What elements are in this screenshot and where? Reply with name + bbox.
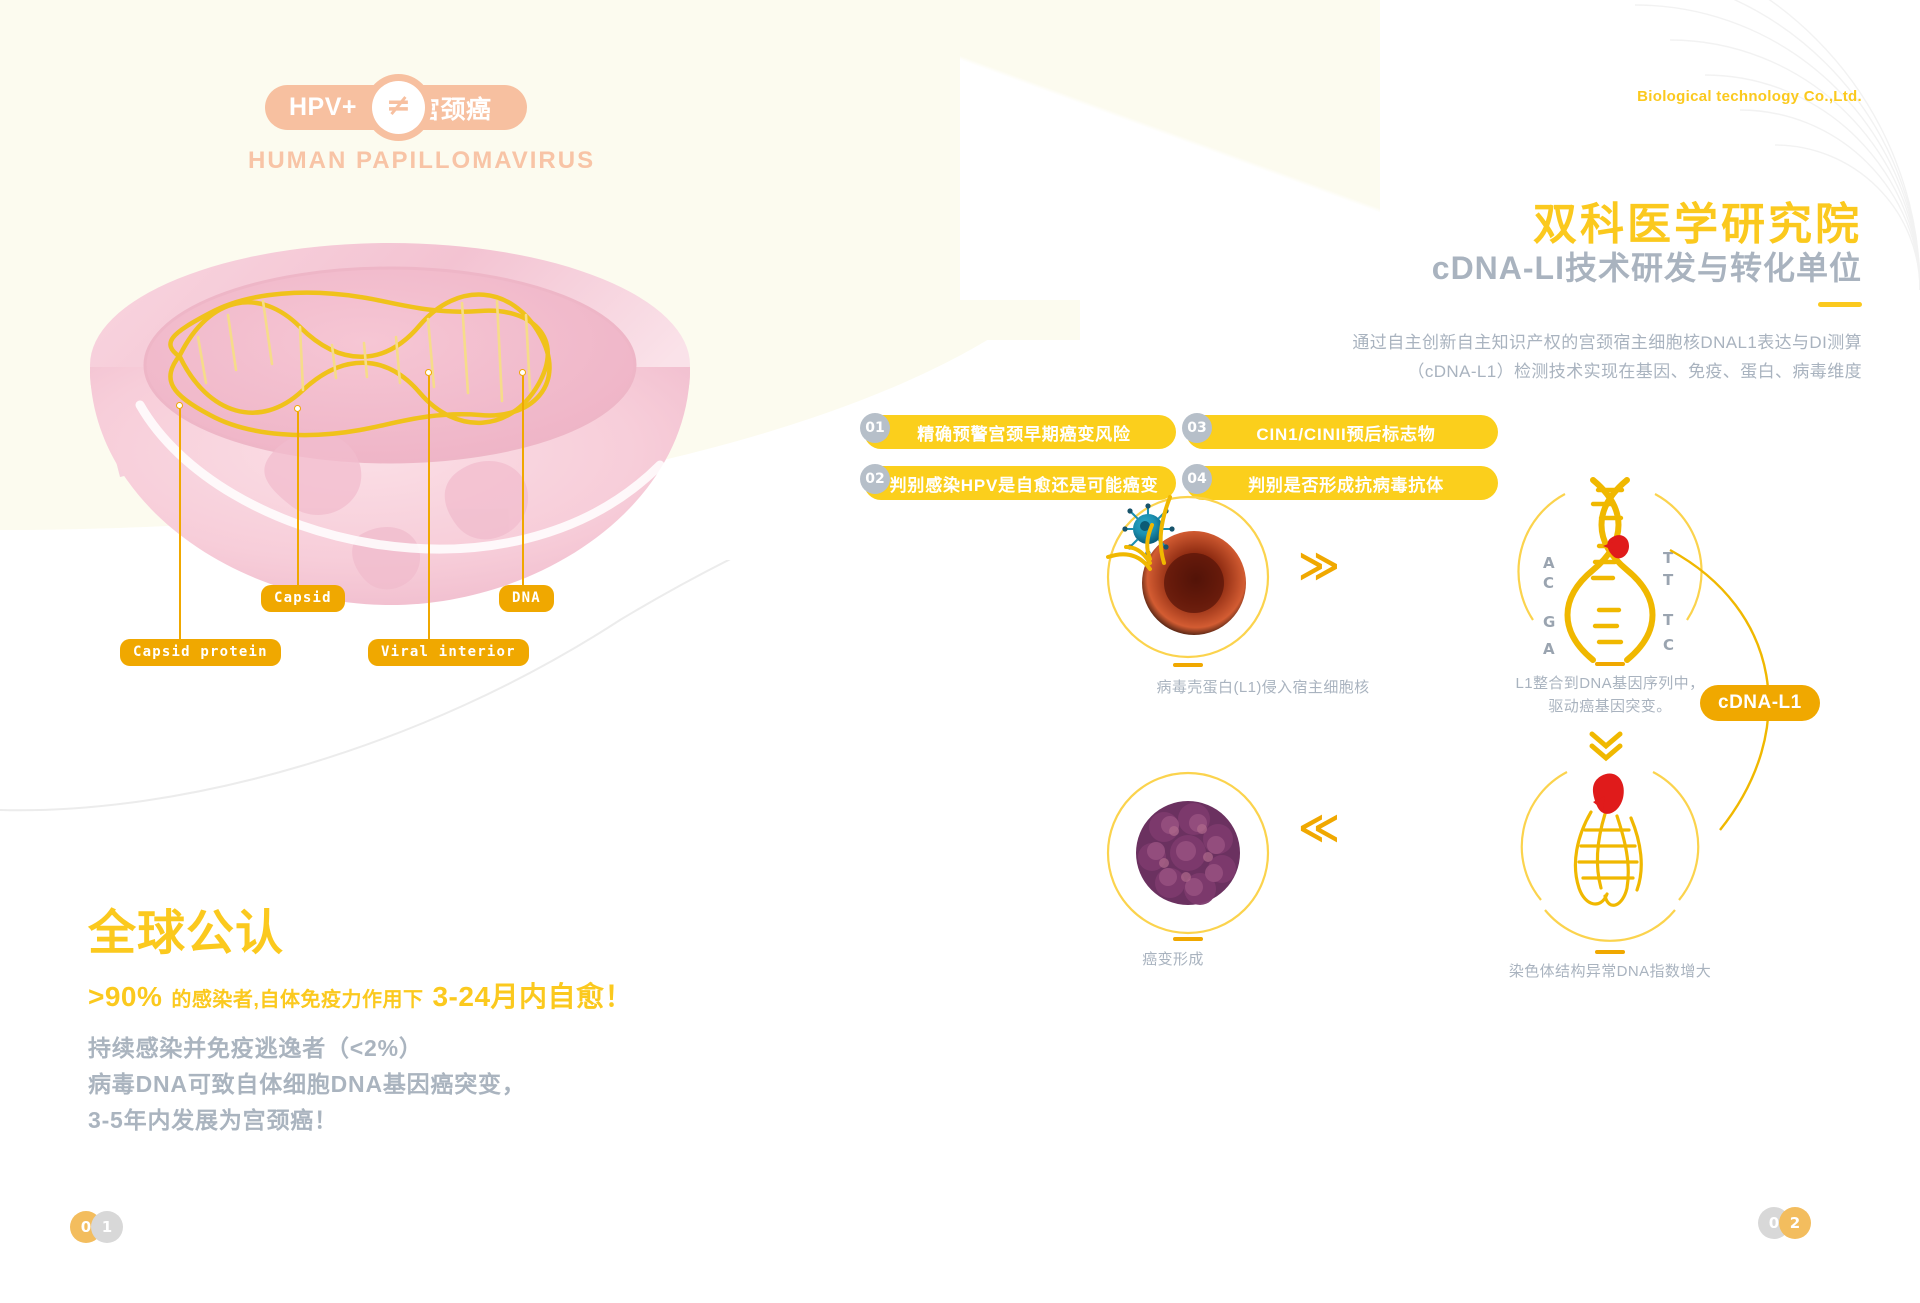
callout-capsid[interactable]: Capsid [261,585,345,612]
dna-base-left-3: G [1543,613,1555,631]
virus-illustration [60,215,760,665]
arrow-left-icon: ≪ [1298,805,1340,851]
step-4-rule [1173,937,1203,941]
institute-subtitle: cDNA-LI技术研发与转化单位 [1432,243,1862,289]
not-equal-glyph: ≠ [372,81,425,134]
headline-global-consensus: 全球公认 [88,893,284,963]
step-3-rule [1595,950,1625,954]
dna-base-left-1: A [1543,554,1555,572]
feature-pill-03-number: 03 [1182,413,1212,443]
hpv-subtitle: HUMAN PAPILLOMAVIRUS [248,147,595,175]
callout-dna[interactable]: DNA [499,585,554,612]
pin-line-dna [522,376,524,585]
pin-dot-viral-interior [425,369,432,376]
page-number-right-second: 2 [1779,1207,1811,1239]
pin-dot-dna [519,369,526,376]
process-diagram: 病毒壳蛋白(L1)侵入宿主细胞核 ≫ [1010,470,1920,970]
feature-pill-02-number: 02 [860,464,890,494]
feature-pill-01[interactable]: 精确预警宫颈早期癌变风险 [864,415,1176,449]
feature-pill-03[interactable]: CIN1/CINII预后标志物 [1186,415,1498,449]
pin-dot-capsid [294,405,301,412]
page-number-left-second: 1 [91,1211,123,1243]
infographic-page: HPV+ 宫颈癌 ≠ HUMAN PAPILLOMAVIRUS [0,0,1920,1303]
page-number-right: 0 2 [1758,1207,1811,1239]
stat-middle-text: 的感染者,自体免疫力作用下 [171,983,423,1012]
left-panel: HPV+ 宫颈癌 ≠ HUMAN PAPILLOMAVIRUS [0,0,1010,1303]
step-4-illustration [1098,765,1278,945]
gray-paragraph-line-2: 病毒DNA可致自体细胞DNA基因癌突变， [88,1066,526,1102]
cdna-l1-badge[interactable]: cDNA-L1 [1700,685,1820,721]
page-number-left: 0 1 [70,1211,123,1243]
gray-paragraph-line-1: 持续感染并免疫逃逸者（<2%） [88,1030,526,1066]
right-panel: Biological technology Co.,Ltd. 双科医学研究院 c… [1010,0,1920,1303]
pin-line-capsid [297,412,299,585]
not-equal-icon: ≠ [365,74,432,141]
arrow-right-icon: ≫ [1298,543,1340,589]
callout-viral-interior[interactable]: Viral interior [368,639,529,666]
feature-pill-04-number: 04 [1182,464,1212,494]
pin-line-viral-interior [428,376,430,639]
stat-line: >90% 的感染者,自体免疫力作用下 3-24月内自愈！ [88,975,633,1015]
step-4-caption: 癌变形成 [1028,948,1318,971]
company-name: Biological technology Co.,Ltd. [1637,88,1862,105]
pin-dot-capsid-protein [176,402,183,409]
step-1-rule [1173,663,1203,667]
institute-description-line-2: （cDNA-L1）检测技术实现在基因、免疫、蛋白、病毒维度 [1352,357,1862,386]
stat-duration: 3-24月内自愈！ [432,975,633,1015]
pin-line-capsid-protein [179,409,181,644]
institute-description-line-1: 通过自主创新自主知识产权的宫颈宿主细胞核DNAL1表达与DI测算 [1352,328,1862,357]
hpv-badge-left-text: HPV+ [289,93,357,122]
feature-pill-01-number: 01 [860,413,890,443]
callout-capsid-protein[interactable]: Capsid protein [120,639,281,666]
step-3-caption: 染色体结构异常DNA指数增大 [1440,960,1780,983]
gray-paragraph: 持续感染并免疫逃逸者（<2%） 病毒DNA可致自体细胞DNA基因癌突变， 3-5… [88,1030,526,1138]
dna-base-left-4: A [1543,640,1555,658]
title-divider [1818,302,1862,307]
step-3-illustration [1505,760,1715,950]
step-1-caption: 病毒壳蛋白(L1)侵入宿主细胞核 [1028,676,1498,699]
stat-percent: >90% [88,981,162,1013]
step-2-rule [1595,662,1625,666]
dna-base-left-2: C [1543,574,1554,592]
step-1-illustration [1098,485,1278,665]
institute-description: 通过自主创新自主知识产权的宫颈宿主细胞核DNAL1表达与DI测算 （cDNA-L… [1352,328,1862,386]
gray-paragraph-line-3: 3-5年内发展为宫颈癌！ [88,1102,526,1138]
